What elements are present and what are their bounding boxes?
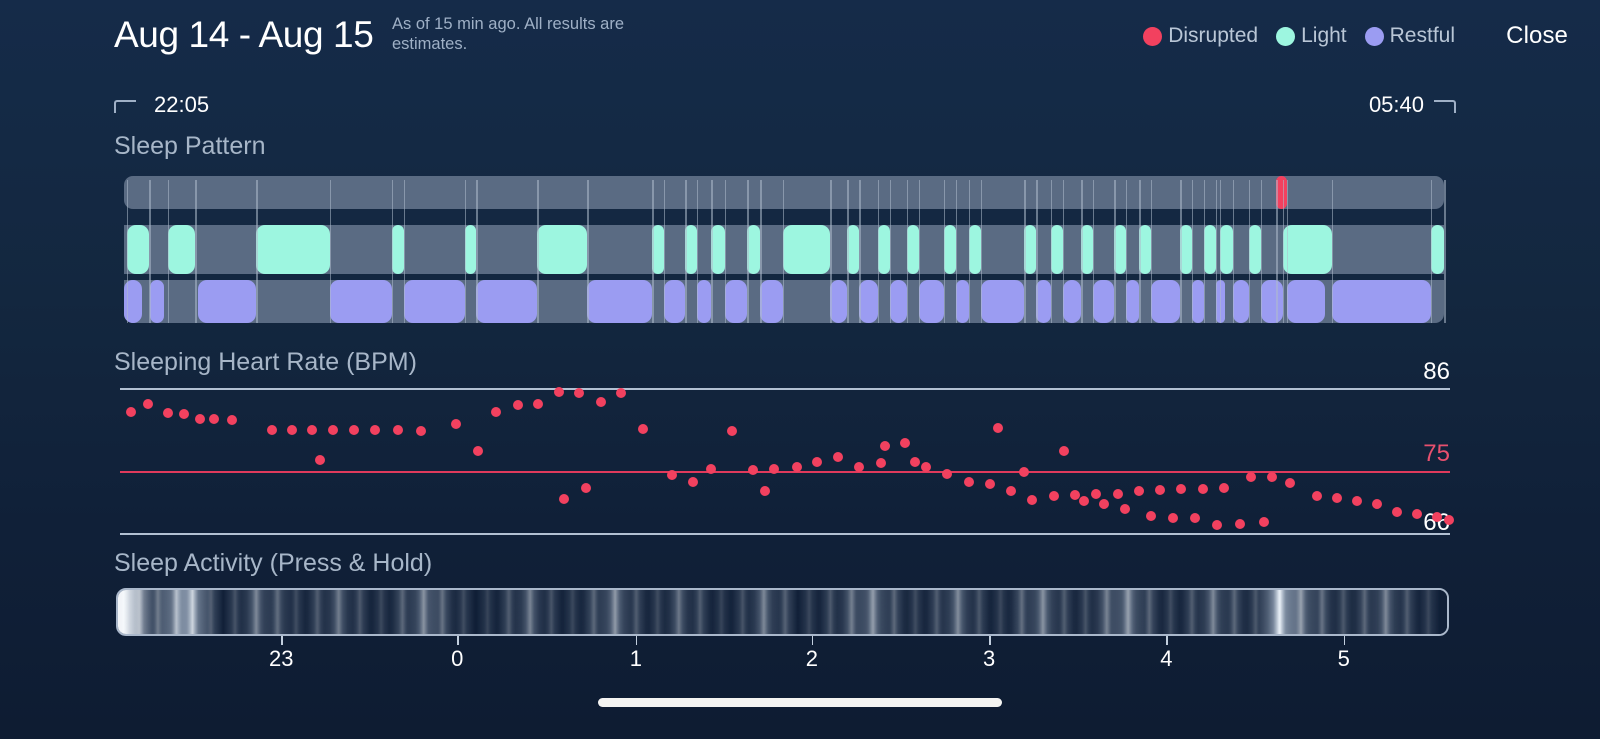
stage-connector-line bbox=[465, 180, 467, 323]
sleep-segment-light bbox=[783, 225, 831, 274]
hr-data-point bbox=[307, 425, 317, 435]
hr-data-point bbox=[1099, 499, 1109, 509]
hr-data-point bbox=[491, 407, 501, 417]
sleep-segment-disrupted bbox=[1276, 176, 1287, 209]
heart-rate-title: Sleeping Heart Rate (BPM) bbox=[114, 348, 417, 377]
hr-data-point bbox=[581, 483, 591, 493]
stage-connector-line bbox=[697, 180, 699, 323]
sleep-pattern-chart[interactable] bbox=[124, 176, 1444, 323]
hr-data-point bbox=[574, 388, 584, 398]
axis-tick-label: 3 bbox=[983, 646, 995, 672]
hr-data-point bbox=[163, 408, 173, 418]
legend-label-light: Light bbox=[1301, 24, 1347, 48]
sleep-segment-light bbox=[1024, 225, 1036, 274]
sleep-segment-restful bbox=[725, 280, 747, 323]
hr-data-point bbox=[616, 388, 626, 398]
sleep-segment-restful bbox=[587, 280, 652, 323]
stage-connector-line bbox=[1139, 180, 1141, 323]
hr-data-point bbox=[267, 425, 277, 435]
sleep-segment-restful bbox=[981, 280, 1025, 323]
hr-data-point bbox=[1049, 491, 1059, 501]
hr-data-point bbox=[1019, 467, 1029, 477]
sleep-segment-restful bbox=[664, 280, 685, 323]
stage-connector-line bbox=[747, 180, 749, 323]
stage-connector-line bbox=[330, 180, 332, 323]
sleep-segment-light bbox=[1139, 225, 1151, 274]
axis-tick bbox=[281, 636, 283, 645]
sleep-segment-light bbox=[944, 225, 956, 274]
hr-data-point bbox=[760, 486, 770, 496]
stage-connector-line bbox=[1036, 180, 1038, 323]
stage-connector-line bbox=[392, 180, 394, 323]
sleep-segment-restful bbox=[150, 280, 163, 323]
corner-top-left-icon bbox=[114, 100, 136, 113]
stage-connector-line bbox=[1261, 180, 1263, 323]
hr-data-point bbox=[1168, 513, 1178, 523]
stage-connector-line bbox=[890, 180, 892, 323]
hr-data-point bbox=[921, 462, 931, 472]
hr-data-point bbox=[451, 419, 461, 429]
page-title: Aug 14 - Aug 15 bbox=[114, 14, 373, 56]
hr-label-max: 86 bbox=[1423, 358, 1450, 386]
heart-rate-chart[interactable]: 86 75 66 bbox=[120, 380, 1450, 535]
stage-connector-line bbox=[1093, 180, 1095, 323]
axis-tick-label: 0 bbox=[451, 646, 463, 672]
hr-data-point bbox=[328, 425, 338, 435]
sleep-segment-light bbox=[1431, 225, 1444, 274]
header: Aug 14 - Aug 15 As of 15 min ago. All re… bbox=[0, 0, 1600, 78]
stage-connector-line bbox=[652, 180, 654, 323]
sleep-segment-restful bbox=[760, 280, 782, 323]
sleep-segment-light bbox=[1283, 225, 1332, 274]
hr-data-point bbox=[1219, 483, 1229, 493]
stage-connector-line bbox=[664, 180, 666, 323]
sleep-pattern-title: Sleep Pattern bbox=[114, 132, 266, 161]
stage-connector-line bbox=[1431, 180, 1433, 323]
sleep-segment-restful bbox=[919, 280, 944, 323]
stage-connector-line bbox=[195, 180, 197, 323]
sleep-segment-restful bbox=[697, 280, 712, 323]
sleep-segment-light bbox=[392, 225, 404, 274]
stage-connector-line bbox=[1114, 180, 1116, 323]
sleep-segment-light bbox=[1114, 225, 1126, 274]
stage-connector-line bbox=[878, 180, 880, 323]
sleep-segment-light bbox=[1249, 225, 1261, 274]
stage-connector-line bbox=[1287, 180, 1289, 323]
hr-data-point bbox=[1352, 496, 1362, 506]
hr-data-point bbox=[1212, 520, 1222, 530]
stage-connector-line bbox=[1024, 180, 1026, 323]
stage-connector-line bbox=[1063, 180, 1065, 323]
circle-icon bbox=[1276, 27, 1295, 46]
axis-tick bbox=[812, 636, 814, 645]
hr-data-point bbox=[1134, 486, 1144, 496]
sleep-segment-light bbox=[168, 225, 196, 274]
hr-data-point bbox=[880, 441, 890, 451]
stage-connector-line bbox=[168, 180, 170, 323]
hr-data-point bbox=[964, 477, 974, 487]
hr-data-point bbox=[315, 455, 325, 465]
sleep-segment-restful bbox=[1192, 280, 1204, 323]
sleep-segment-restful bbox=[198, 280, 256, 323]
axis-tick-label: 23 bbox=[269, 646, 293, 672]
hr-data-point bbox=[1091, 489, 1101, 499]
sleep-segment-restful bbox=[956, 280, 969, 323]
hr-data-point bbox=[1146, 511, 1156, 521]
sleep-activity-title: Sleep Activity (Press & Hold) bbox=[114, 549, 432, 578]
sleep-segment-light bbox=[1220, 225, 1233, 274]
sleep-segment-light bbox=[907, 225, 919, 274]
stage-connector-line bbox=[1220, 180, 1222, 323]
hr-data-point bbox=[143, 399, 153, 409]
stage-connector-line bbox=[1444, 180, 1446, 323]
sleep-segment-restful bbox=[404, 280, 465, 323]
time-range-row: 22:05 05:40 bbox=[114, 92, 1456, 122]
stage-connector-line bbox=[685, 180, 687, 323]
sleep-segment-light bbox=[685, 225, 697, 274]
stage-connector-line bbox=[907, 180, 909, 323]
hr-data-point bbox=[596, 397, 606, 407]
page-subtitle: As of 15 min ago. All results are estima… bbox=[392, 14, 662, 54]
sleep-segment-restful bbox=[476, 280, 537, 323]
stage-connector-line bbox=[919, 180, 921, 323]
legend-label-restful: Restful bbox=[1390, 24, 1455, 48]
sleep-segment-light bbox=[652, 225, 664, 274]
legend-item-disrupted: Disrupted bbox=[1143, 24, 1258, 48]
hr-data-point bbox=[706, 464, 716, 474]
stage-connector-line bbox=[1216, 180, 1218, 323]
close-button[interactable]: Close bbox=[1506, 22, 1568, 50]
hr-data-point bbox=[195, 414, 205, 424]
hr-data-point bbox=[416, 426, 426, 436]
corner-top-right-icon bbox=[1434, 100, 1456, 113]
hr-label-avg: 75 bbox=[1423, 440, 1450, 468]
hr-data-point bbox=[1176, 484, 1186, 494]
stage-connector-line bbox=[859, 180, 861, 323]
hr-data-point bbox=[1259, 517, 1269, 527]
stage-connector-line bbox=[537, 180, 539, 323]
sleep-segment-restful bbox=[1261, 280, 1283, 323]
stage-connector-line bbox=[725, 180, 727, 323]
hr-data-point bbox=[1155, 485, 1165, 495]
hr-data-point bbox=[209, 414, 219, 424]
sleep-activity-canvas[interactable] bbox=[118, 590, 1447, 634]
stage-connector-line bbox=[1249, 180, 1251, 323]
hr-data-point bbox=[1432, 512, 1442, 522]
stage-connector-line bbox=[1283, 180, 1285, 323]
stage-connector-line bbox=[1233, 180, 1235, 323]
axis-tick bbox=[1166, 636, 1168, 645]
axis-tick-label: 1 bbox=[630, 646, 642, 672]
axis-tick-label: 2 bbox=[806, 646, 818, 672]
sleep-segment-light bbox=[127, 225, 149, 274]
stage-connector-line bbox=[847, 180, 849, 323]
sleep-segment-restful bbox=[830, 280, 847, 323]
legend-item-light: Light bbox=[1276, 24, 1347, 48]
hr-data-point bbox=[1198, 484, 1208, 494]
hr-reference-line-max bbox=[120, 388, 1450, 390]
hr-data-point bbox=[533, 399, 543, 409]
hr-data-point bbox=[554, 387, 564, 397]
stage-connector-line bbox=[1180, 180, 1182, 323]
hr-data-point bbox=[1444, 515, 1454, 525]
hr-data-point bbox=[900, 438, 910, 448]
hr-data-point bbox=[287, 425, 297, 435]
hr-data-point bbox=[370, 425, 380, 435]
sleep-segment-restful bbox=[859, 280, 877, 323]
stage-connector-line bbox=[1332, 180, 1334, 323]
axis-tick bbox=[636, 636, 638, 645]
stage-connector-line bbox=[256, 180, 258, 323]
stage-connector-line bbox=[127, 180, 129, 323]
sleep-segment-light bbox=[537, 225, 587, 274]
sleep-segment-restful bbox=[1151, 280, 1180, 323]
stage-connector-line bbox=[760, 180, 762, 323]
stage-connector-line bbox=[783, 180, 785, 323]
hr-data-point bbox=[1285, 478, 1295, 488]
hr-data-point bbox=[1079, 496, 1089, 506]
stage-connector-line bbox=[944, 180, 946, 323]
hr-data-point bbox=[688, 477, 698, 487]
axis-tick-label: 5 bbox=[1338, 646, 1350, 672]
stage-connector-line bbox=[1276, 180, 1278, 323]
stage-connector-line bbox=[149, 180, 151, 323]
hr-data-point bbox=[179, 409, 189, 419]
sleep-segment-light bbox=[1081, 225, 1093, 274]
stage-connector-line bbox=[1081, 180, 1083, 323]
stage-connector-line bbox=[1192, 180, 1194, 323]
hr-data-point bbox=[1267, 472, 1277, 482]
hr-data-point bbox=[727, 426, 737, 436]
hr-data-point bbox=[227, 415, 237, 425]
hr-data-point bbox=[1059, 446, 1069, 456]
sleep-segment-restful bbox=[890, 280, 907, 323]
sleep-segment-restful bbox=[1036, 280, 1051, 323]
sleep-segment-restful bbox=[1233, 280, 1249, 323]
hr-data-point bbox=[638, 424, 648, 434]
sleep-segment-light bbox=[465, 225, 477, 274]
axis-tick-label: 4 bbox=[1160, 646, 1172, 672]
hr-data-point bbox=[513, 400, 523, 410]
hr-data-point bbox=[126, 407, 136, 417]
stage-connector-line bbox=[711, 180, 713, 323]
axis-tick bbox=[457, 636, 459, 645]
hr-data-point bbox=[667, 470, 677, 480]
hr-data-point bbox=[1113, 489, 1123, 499]
hr-data-point bbox=[910, 457, 920, 467]
hr-data-point bbox=[1392, 507, 1402, 517]
time-axis: 23012345 bbox=[116, 636, 1449, 678]
hr-data-point bbox=[812, 457, 822, 467]
hr-data-point bbox=[1027, 495, 1037, 505]
stage-connector-line bbox=[1204, 180, 1206, 323]
circle-icon bbox=[1143, 27, 1162, 46]
hr-data-point bbox=[1235, 519, 1245, 529]
sleep-segment-light bbox=[1051, 225, 1063, 274]
sleep-segment-light bbox=[711, 225, 724, 274]
sleep-segment-restful bbox=[1126, 280, 1139, 323]
axis-tick bbox=[989, 636, 991, 645]
hr-data-point bbox=[1190, 513, 1200, 523]
hr-reference-line-min bbox=[120, 533, 1450, 535]
stage-connector-line bbox=[1051, 180, 1053, 323]
sleep-segment-light bbox=[969, 225, 981, 274]
stage-connector-line bbox=[1126, 180, 1128, 323]
sleep-segment-restful bbox=[1093, 280, 1114, 323]
hr-data-point bbox=[833, 452, 843, 462]
legend-label-disrupted: Disrupted bbox=[1168, 24, 1258, 48]
stage-connector-line bbox=[969, 180, 971, 323]
stage-connector-line bbox=[830, 180, 832, 323]
home-indicator[interactable] bbox=[598, 698, 1002, 707]
hr-data-point bbox=[393, 425, 403, 435]
sleep-segment-light bbox=[847, 225, 859, 274]
sleep-segment-restful bbox=[1063, 280, 1081, 323]
stage-connector-line bbox=[956, 180, 958, 323]
hr-data-point bbox=[993, 423, 1003, 433]
sleep-segment-restful bbox=[330, 280, 392, 323]
sleep-segment-light bbox=[256, 225, 330, 274]
sleep-activity-bar[interactable] bbox=[116, 588, 1449, 636]
sleep-end-time: 05:40 bbox=[1369, 92, 1424, 118]
stage-connector-line bbox=[587, 180, 589, 323]
sleep-start-time: 22:05 bbox=[154, 92, 209, 118]
hr-data-point bbox=[748, 465, 758, 475]
axis-tick bbox=[1344, 636, 1346, 645]
hr-data-point bbox=[1412, 509, 1422, 519]
hr-data-point bbox=[876, 458, 886, 468]
legend: Disrupted Light Restful bbox=[1143, 24, 1455, 48]
stage-connector-line bbox=[1151, 180, 1153, 323]
sleep-segment-restful bbox=[1332, 280, 1431, 323]
hr-data-point bbox=[985, 479, 995, 489]
stage-connector-line bbox=[404, 180, 406, 323]
hr-data-point bbox=[473, 446, 483, 456]
stage-connector-line bbox=[476, 180, 478, 323]
hr-data-point bbox=[1312, 491, 1322, 501]
hr-data-point bbox=[349, 425, 359, 435]
hr-data-point bbox=[559, 494, 569, 504]
sleep-segment-restful bbox=[1287, 280, 1325, 323]
stage-connector-line bbox=[981, 180, 983, 323]
legend-item-restful: Restful bbox=[1365, 24, 1455, 48]
circle-icon bbox=[1365, 27, 1384, 46]
sleep-segment-light bbox=[878, 225, 890, 274]
hr-data-point bbox=[1006, 486, 1016, 496]
sleep-segment-light bbox=[1180, 225, 1192, 274]
hr-data-point bbox=[1120, 504, 1130, 514]
sleep-segment-light bbox=[747, 225, 760, 274]
hr-data-point bbox=[942, 469, 952, 479]
hr-data-point bbox=[1372, 499, 1382, 509]
sleep-segment-light bbox=[1204, 225, 1216, 274]
hr-data-point bbox=[1332, 493, 1342, 503]
hr-data-point bbox=[1246, 472, 1256, 482]
